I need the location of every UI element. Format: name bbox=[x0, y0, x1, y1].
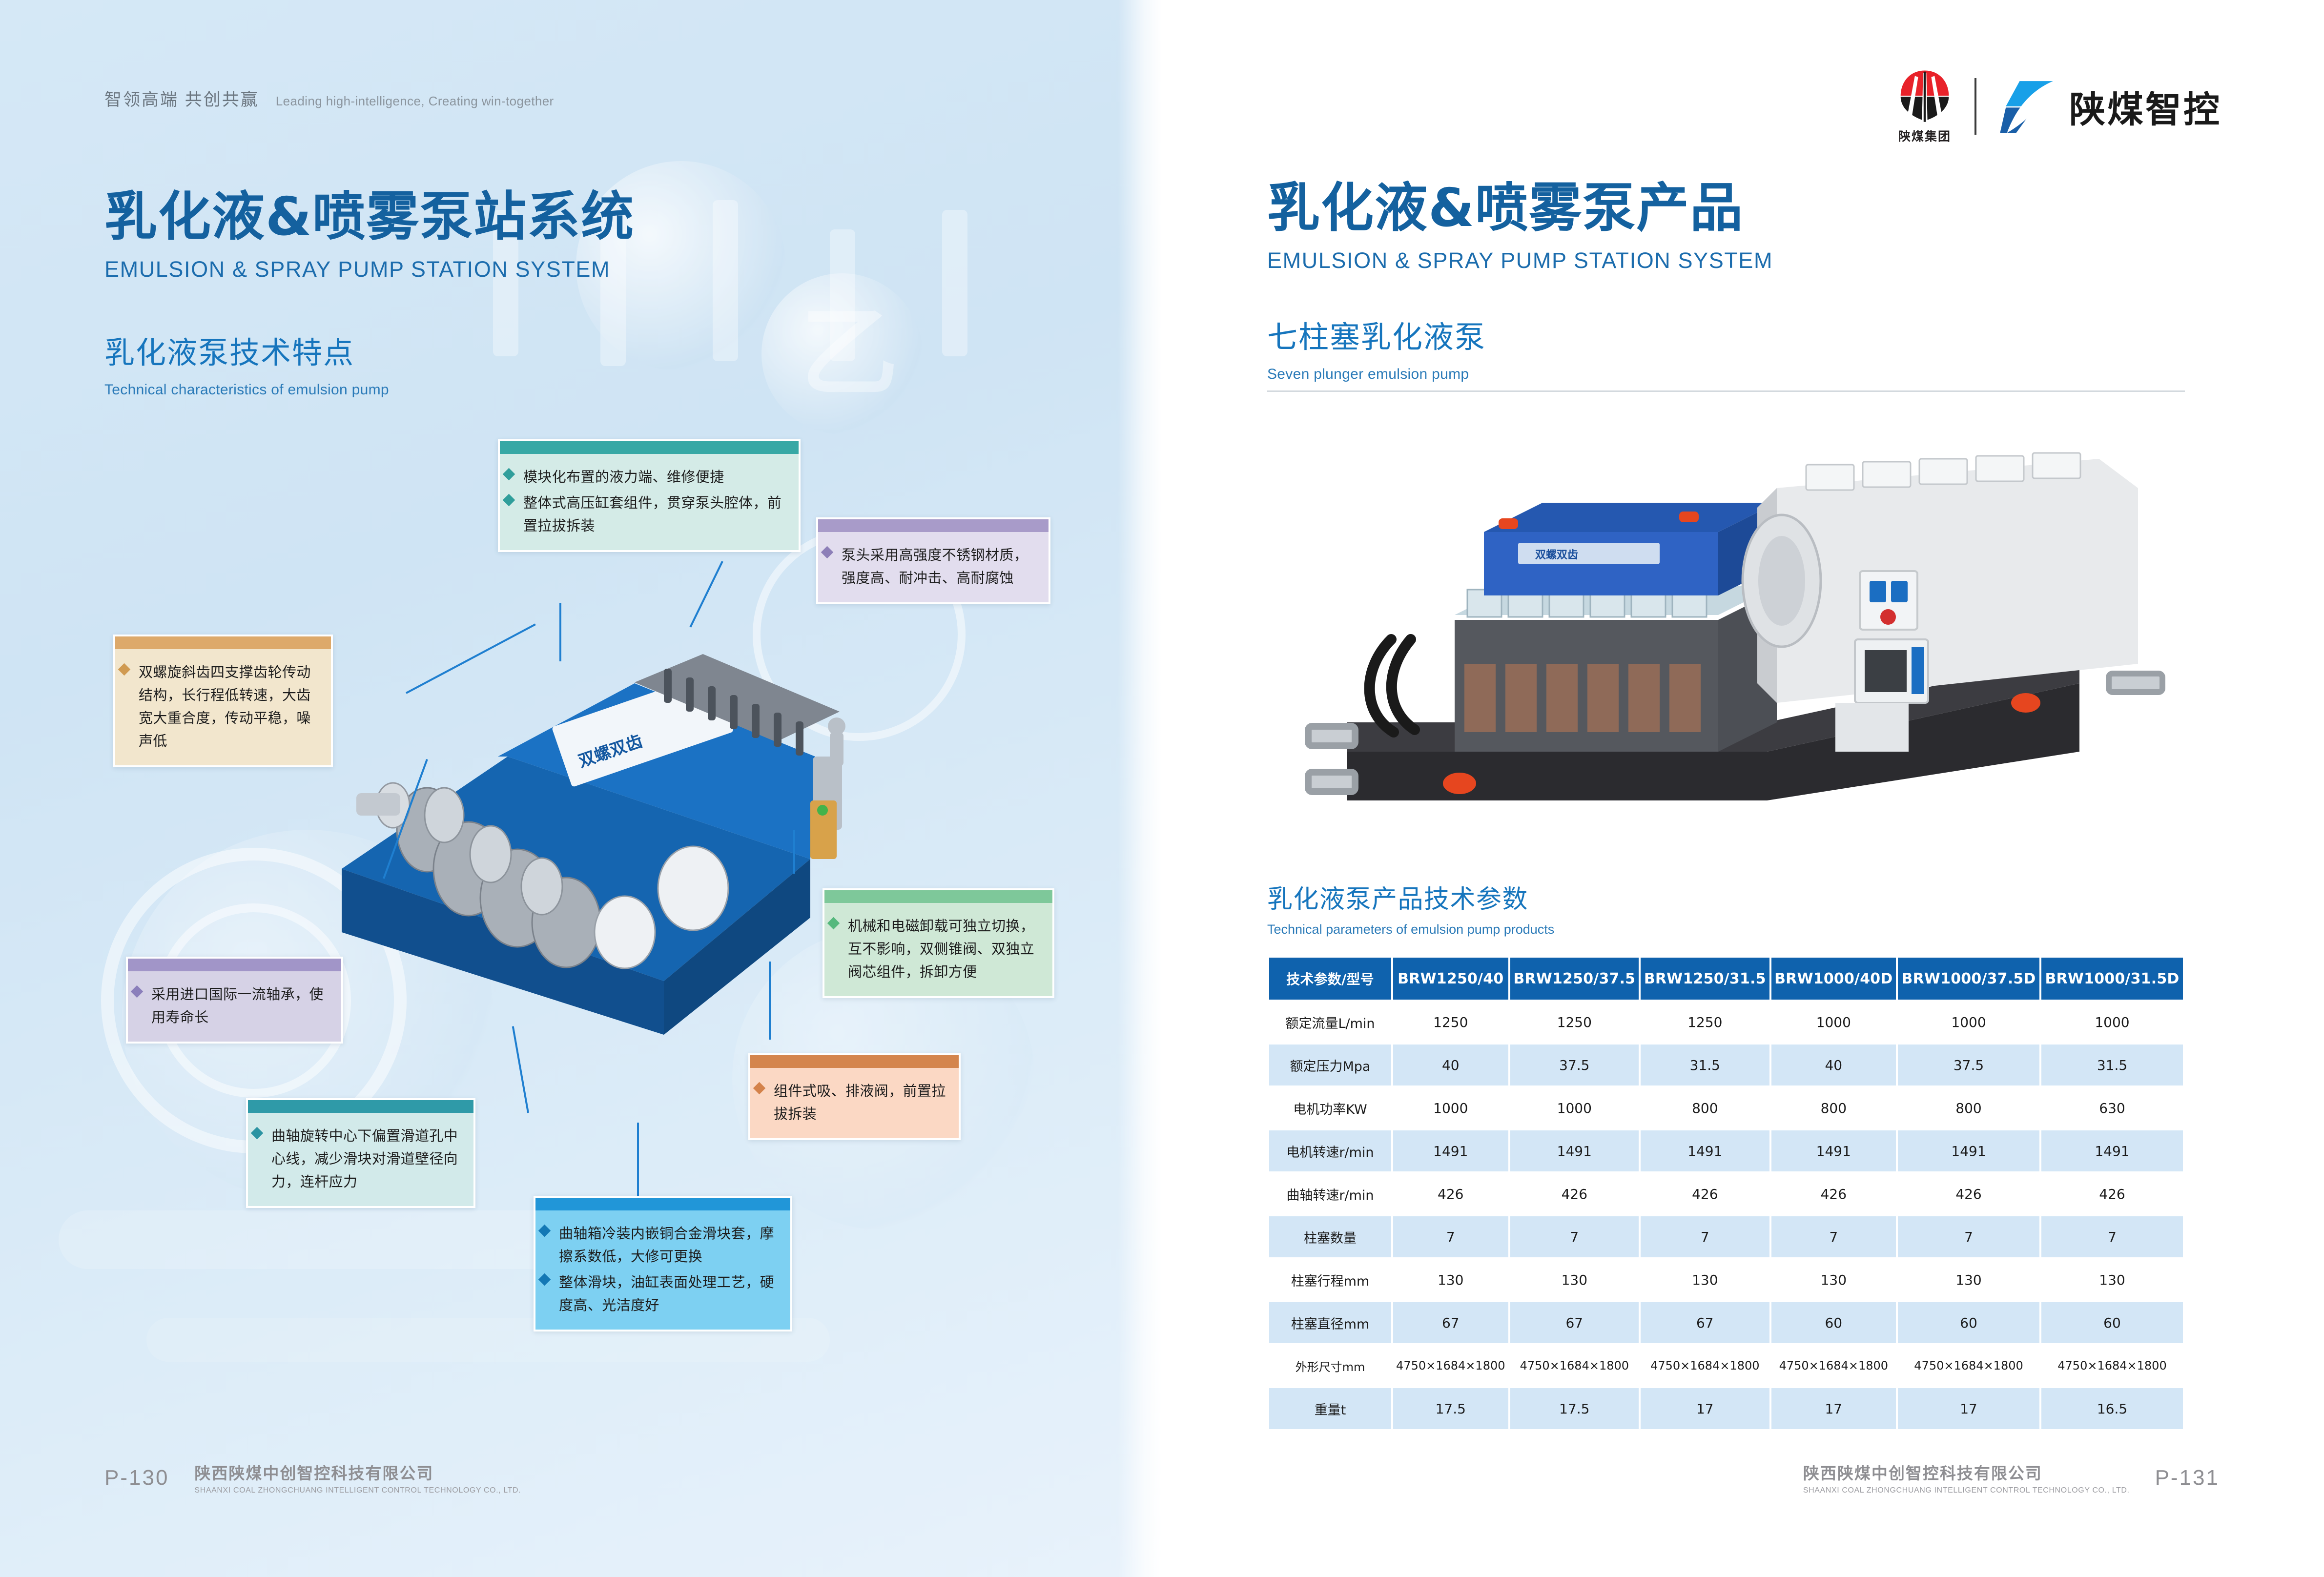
zhongkong-z-mark-icon bbox=[1999, 78, 2057, 135]
table-row: 柱塞数量777777 bbox=[1269, 1216, 2183, 1257]
table-row: 曲轴转速r/min426426426426426426 bbox=[1269, 1173, 2183, 1214]
table-cell: 130 bbox=[1641, 1259, 1769, 1300]
table-cell: 426 bbox=[1393, 1173, 1508, 1214]
table-cell: 1000 bbox=[2041, 1002, 2183, 1043]
diamond-bullet-icon bbox=[538, 1273, 551, 1286]
callout-hydraulic-end: 模块化布置的液力端、维修便捷 整体式高压缸套组件，贯穿泵头腔体，前置拉拔拆装 bbox=[498, 439, 801, 552]
table-cell: 67 bbox=[1641, 1302, 1769, 1343]
table-cell: 426 bbox=[2041, 1173, 2183, 1214]
callout-imported-bearings: 采用进口国际一流轴承，使用寿命长 bbox=[126, 957, 343, 1044]
left-section-cn: 乳化液泵技术特点 bbox=[104, 328, 389, 372]
table-row: 柱塞直径mm676767606060 bbox=[1269, 1302, 2183, 1343]
page-number: P-130 bbox=[104, 1466, 169, 1490]
diamond-bullet-icon bbox=[118, 663, 130, 676]
table-cell: 4750×1684×1800 bbox=[1393, 1345, 1508, 1386]
callout-item: 曲轴旋转中心下偏置滑道孔中心线，减少滑块对滑道壁径向力，连杆应力 bbox=[257, 1125, 463, 1193]
diamond-bullet-icon bbox=[753, 1082, 765, 1094]
group-logo: 陕煤集团 bbox=[1897, 68, 1952, 144]
table-cell: 800 bbox=[1771, 1087, 1896, 1128]
callout-bar bbox=[115, 636, 331, 649]
company-name-cn: 陕西陕煤中创智控科技有限公司 bbox=[194, 1460, 521, 1484]
table-row-label: 额定流量L/min bbox=[1269, 1002, 1391, 1043]
callout-crank-offset: 曲轴旋转中心下偏置滑道孔中心线，减少滑块对滑道壁径向力，连杆应力 bbox=[246, 1098, 475, 1208]
table-cell: 60 bbox=[2041, 1302, 2183, 1343]
table-col-header-model: BRW1000/31.5D bbox=[2041, 958, 2183, 1000]
left-page: 乙 智领高端 共创共赢 Leading high-intelligence, C… bbox=[0, 0, 1162, 1577]
table-heading-en: Technical parameters of emulsion pump pr… bbox=[1267, 922, 1554, 937]
table-cell: 800 bbox=[1898, 1087, 2039, 1128]
callout-unloading-switch: 机械和电磁卸载可独立切换，互不影响，双侧锥阀、双独立阀芯组件，拆卸方便 bbox=[823, 888, 1054, 998]
leader-line-1 bbox=[559, 603, 561, 661]
table-cell: 130 bbox=[1393, 1259, 1508, 1300]
table-cell: 426 bbox=[1510, 1173, 1639, 1214]
table-cell: 1000 bbox=[1510, 1087, 1639, 1128]
table-cell: 7 bbox=[1393, 1216, 1508, 1257]
callout-item: 模块化布置的液力端、维修便捷 bbox=[509, 466, 788, 489]
table-row: 重量t17.517.517171716.5 bbox=[1269, 1388, 2183, 1429]
table-col-header-model: BRW1250/37.5 bbox=[1510, 958, 1639, 1000]
callout-item: 组件式吸、排液阀，前置拉拔拆装 bbox=[759, 1080, 948, 1126]
table-cell: 17 bbox=[1641, 1388, 1769, 1429]
group-logo-cn: 陕煤集团 bbox=[1898, 127, 1951, 144]
company-name-en: SHAANXI COAL ZHONGCHUANG INTELLIGENT CON… bbox=[1803, 1486, 2130, 1495]
table-cell: 17.5 bbox=[1510, 1388, 1639, 1429]
diamond-bullet-icon bbox=[538, 1225, 551, 1237]
table-cell: 7 bbox=[1898, 1216, 2039, 1257]
logo-divider bbox=[1974, 78, 1976, 135]
brand-tagline: 智领高端 共创共赢 Leading high-intelligence, Cre… bbox=[104, 86, 554, 111]
table-cell: 1000 bbox=[1771, 1002, 1896, 1043]
tagline-cn: 智领高端 共创共赢 bbox=[104, 86, 259, 111]
table-cell: 426 bbox=[1771, 1173, 1896, 1214]
shaanxi-coal-group-icon bbox=[1897, 68, 1952, 123]
company-logo-cn: 陕煤智控 bbox=[2069, 81, 2221, 133]
company-name-cn: 陕西陕煤中创智控科技有限公司 bbox=[1803, 1460, 2130, 1484]
table-cell: 31.5 bbox=[2041, 1045, 2183, 1085]
table-cell: 4750×1684×1800 bbox=[1771, 1345, 1896, 1386]
table-cell: 17 bbox=[1771, 1388, 1896, 1429]
right-page-title-en: EMULSION & SPRAY PUMP STATION SYSTEM bbox=[1267, 248, 1773, 273]
spec-table: 技术参数/型号BRW1250/40BRW1250/37.5BRW1250/31.… bbox=[1267, 956, 2185, 1431]
leader-line-4 bbox=[793, 830, 795, 874]
table-cell: 426 bbox=[1641, 1173, 1769, 1214]
callout-suction-discharge-valve: 组件式吸、排液阀，前置拉拔拆装 bbox=[748, 1053, 961, 1140]
emulsion-pump-illustration: 双螺双齿 bbox=[322, 595, 888, 1049]
callout-bar bbox=[248, 1100, 473, 1113]
right-section-en: Seven plunger emulsion pump bbox=[1267, 366, 1486, 383]
catalog-spread: 乙 智领高端 共创共赢 Leading high-intelligence, C… bbox=[0, 0, 2324, 1577]
table-cell: 1491 bbox=[1393, 1130, 1508, 1171]
table-cell: 130 bbox=[1898, 1259, 2039, 1300]
table-cell: 37.5 bbox=[1898, 1045, 2039, 1085]
table-col-header-param: 技术参数/型号 bbox=[1269, 958, 1391, 1000]
right-footer: 陕西陕煤中创智控科技有限公司 SHAANXI COAL ZHONGCHUANG … bbox=[1803, 1460, 2220, 1495]
table-cell: 1491 bbox=[1771, 1130, 1896, 1171]
table-cell: 4750×1684×1800 bbox=[2041, 1345, 2183, 1386]
table-row-label: 柱塞直径mm bbox=[1269, 1302, 1391, 1343]
table-cell: 1491 bbox=[1898, 1130, 2039, 1171]
callout-bar bbox=[500, 441, 799, 454]
seven-plunger-pump-photo: 双螺双齿 bbox=[1289, 410, 2187, 835]
right-page: 陕煤集团 陕煤智控 乳化液&喷雾泵产品 EMULSION & SPRAY PUM… bbox=[1162, 0, 2324, 1577]
table-row-label: 电机功率KW bbox=[1269, 1087, 1391, 1128]
table-cell: 1491 bbox=[1510, 1130, 1639, 1171]
table-cell: 37.5 bbox=[1510, 1045, 1639, 1085]
table-cell: 800 bbox=[1641, 1087, 1769, 1128]
table-cell: 130 bbox=[1510, 1259, 1639, 1300]
table-heading-cn: 乳化液泵产品技术参数 bbox=[1267, 879, 1554, 915]
right-section-heading: 七柱塞乳化液泵 Seven plunger emulsion pump bbox=[1267, 312, 1486, 383]
callout-pump-head-material: 泵头采用高强度不锈钢材质，强度高、耐冲击、高耐腐蚀 bbox=[816, 517, 1050, 604]
table-row-label: 额定压力Mpa bbox=[1269, 1045, 1391, 1085]
table-cell: 1250 bbox=[1641, 1002, 1769, 1043]
table-row-label: 柱塞行程mm bbox=[1269, 1259, 1391, 1300]
diamond-bullet-icon bbox=[251, 1127, 263, 1139]
callout-item: 机械和电磁卸载可独立切换，互不影响，双侧锥阀、双独立阀芯组件，拆卸方便 bbox=[833, 915, 1042, 983]
callout-crankcase-slider: 曲轴箱冷装内嵌铜合金滑块套，摩擦系数低，大修可更换 整体滑块，油缸表面处理工艺，… bbox=[534, 1196, 792, 1331]
table-col-header-model: BRW1000/37.5D bbox=[1898, 958, 2039, 1000]
table-cell: 60 bbox=[1771, 1302, 1896, 1343]
table-cell: 630 bbox=[2041, 1087, 2183, 1128]
table-cell: 4750×1684×1800 bbox=[1641, 1345, 1769, 1386]
callout-bar bbox=[750, 1055, 959, 1068]
left-page-title-en: EMULSION & SPRAY PUMP STATION SYSTEM bbox=[104, 257, 635, 282]
left-footer: P-130 陕西陕煤中创智控科技有限公司 SHAANXI COAL ZHONGC… bbox=[104, 1460, 521, 1495]
callout-bar bbox=[824, 890, 1052, 903]
table-cell: 4750×1684×1800 bbox=[1510, 1345, 1639, 1386]
table-cell: 130 bbox=[2041, 1259, 2183, 1300]
table-cell: 7 bbox=[2041, 1216, 2183, 1257]
callout-item: 整体滑块，油缸表面处理工艺，硬度高、光洁度好 bbox=[544, 1271, 780, 1317]
table-cell: 4750×1684×1800 bbox=[1898, 1345, 2039, 1386]
callout-bar bbox=[818, 519, 1049, 532]
callout-bar bbox=[535, 1198, 790, 1210]
callout-bar bbox=[128, 959, 341, 971]
right-page-title-cn: 乳化液&喷雾泵产品 bbox=[1267, 182, 1773, 235]
table-cell: 60 bbox=[1898, 1302, 2039, 1343]
table-cell: 40 bbox=[1771, 1045, 1896, 1085]
callout-item: 双螺旋斜齿四支撑齿轮传动结构，长行程低转速，大齿宽大重合度，传动平稳，噪声低 bbox=[124, 661, 320, 753]
table-cell: 7 bbox=[1510, 1216, 1639, 1257]
right-title-block: 乳化液&喷雾泵产品 EMULSION & SPRAY PUMP STATION … bbox=[1267, 182, 1773, 273]
table-cell: 1491 bbox=[2041, 1130, 2183, 1171]
table-row: 电机转速r/min149114911491149114911491 bbox=[1269, 1130, 2183, 1171]
right-section-cn: 七柱塞乳化液泵 bbox=[1267, 312, 1486, 356]
table-col-header-model: BRW1000/40D bbox=[1771, 958, 1896, 1000]
company-logo: 陕煤智控 bbox=[1999, 78, 2221, 135]
table-row: 柱塞行程mm130130130130130130 bbox=[1269, 1259, 2183, 1300]
table-col-header-model: BRW1250/40 bbox=[1393, 958, 1508, 1000]
diamond-bullet-icon bbox=[503, 468, 515, 480]
left-section-en: Technical characteristics of emulsion pu… bbox=[104, 382, 389, 398]
table-row-label: 外形尺寸mm bbox=[1269, 1345, 1391, 1386]
table-col-header-model: BRW1250/31.5 bbox=[1641, 958, 1769, 1000]
table-cell: 7 bbox=[1641, 1216, 1769, 1257]
callout-item: 采用进口国际一流轴承，使用寿命长 bbox=[137, 983, 330, 1029]
table-cell: 426 bbox=[1898, 1173, 2039, 1214]
table-header-row: 技术参数/型号BRW1250/40BRW1250/37.5BRW1250/31.… bbox=[1269, 958, 2183, 1000]
table-row: 额定压力Mpa4037.531.54037.531.5 bbox=[1269, 1045, 2183, 1085]
table-cell: 17 bbox=[1898, 1388, 2039, 1429]
table-cell: 17.5 bbox=[1393, 1388, 1508, 1429]
callout-item: 泵头采用高强度不锈钢材质，强度高、耐冲击、高耐腐蚀 bbox=[827, 544, 1038, 590]
left-section-heading: 乳化液泵技术特点 Technical characteristics of em… bbox=[104, 328, 389, 398]
table-cell: 40 bbox=[1393, 1045, 1508, 1085]
table-cell: 1000 bbox=[1393, 1087, 1508, 1128]
table-cell: 1250 bbox=[1393, 1002, 1508, 1043]
table-row-label: 电机转速r/min bbox=[1269, 1130, 1391, 1171]
section-divider bbox=[1267, 390, 2185, 392]
table-cell: 16.5 bbox=[2041, 1388, 2183, 1429]
table-heading-block: 乳化液泵产品技术参数 Technical parameters of emuls… bbox=[1267, 879, 1554, 937]
diamond-bullet-icon bbox=[827, 917, 840, 929]
table-row-label: 柱塞数量 bbox=[1269, 1216, 1391, 1257]
callout-item: 曲轴箱冷装内嵌铜合金滑块套，摩擦系数低，大修可更换 bbox=[544, 1222, 780, 1268]
table-row-label: 重量t bbox=[1269, 1388, 1391, 1429]
page-number: P-131 bbox=[2155, 1466, 2220, 1490]
diamond-bullet-icon bbox=[131, 985, 143, 998]
table-row: 电机功率KW10001000800800800630 bbox=[1269, 1087, 2183, 1128]
leader-line-5 bbox=[769, 962, 771, 1040]
leader-line-7 bbox=[637, 1123, 639, 1196]
table-row-label: 曲轴转速r/min bbox=[1269, 1173, 1391, 1214]
table-cell: 1250 bbox=[1510, 1002, 1639, 1043]
diamond-bullet-icon bbox=[503, 494, 515, 506]
table-cell: 67 bbox=[1393, 1302, 1508, 1343]
brand-logo-lockup: 陕煤集团 陕煤智控 bbox=[1897, 68, 2221, 144]
table-cell: 7 bbox=[1771, 1216, 1896, 1257]
diamond-bullet-icon bbox=[821, 546, 833, 558]
table-cell: 31.5 bbox=[1641, 1045, 1769, 1085]
callout-gear-drive: 双螺旋斜齿四支撑齿轮传动结构，长行程低转速，大齿宽大重合度，传动平稳，噪声低 bbox=[113, 635, 333, 767]
table-row: 外形尺寸mm4750×1684×18004750×1684×18004750×1… bbox=[1269, 1345, 2183, 1386]
company-name-en: SHAANXI COAL ZHONGCHUANG INTELLIGENT CON… bbox=[194, 1486, 521, 1495]
left-title-block: 乳化液&喷雾泵站系统 EMULSION & SPRAY PUMP STATION… bbox=[104, 190, 635, 282]
table-cell: 1000 bbox=[1898, 1002, 2039, 1043]
tagline-en: Leading high-intelligence, Creating win-… bbox=[276, 94, 554, 109]
callout-item: 整体式高压缸套组件，贯穿泵头腔体，前置拉拔拆装 bbox=[509, 492, 788, 537]
svg-text:双螺双齿: 双螺双齿 bbox=[1535, 549, 1578, 561]
left-page-title-cn: 乳化液&喷雾泵站系统 bbox=[104, 190, 635, 244]
table-cell: 130 bbox=[1771, 1259, 1896, 1300]
table-cell: 67 bbox=[1510, 1302, 1639, 1343]
table-row: 额定流量L/min125012501250100010001000 bbox=[1269, 1002, 2183, 1043]
table-cell: 1491 bbox=[1641, 1130, 1769, 1171]
